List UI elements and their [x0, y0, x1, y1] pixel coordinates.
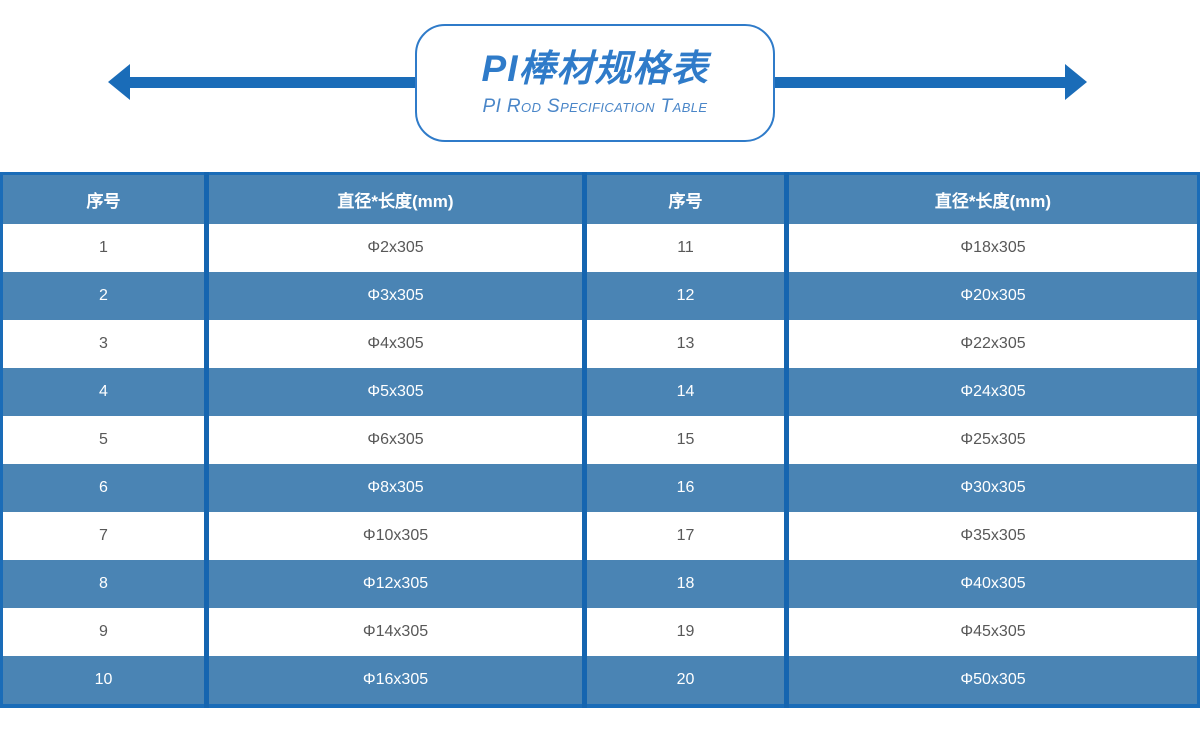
cell-no-right: 14 — [585, 368, 787, 416]
table-row: 1Φ2x30511Φ18x305 — [2, 224, 1199, 272]
cell-no-right: 15 — [585, 416, 787, 464]
cell-spec-left: Φ4x305 — [207, 320, 585, 368]
cell-spec-right: Φ45x305 — [787, 608, 1199, 656]
page-title-cn: PI棒材规格表 — [482, 48, 709, 91]
cell-spec-right: Φ22x305 — [787, 320, 1199, 368]
specification-table: 序号 直径*长度(mm) 序号 直径*长度(mm) 1Φ2x30511Φ18x3… — [0, 172, 1200, 708]
cell-no-right: 16 — [585, 464, 787, 512]
cell-no-left: 10 — [2, 656, 207, 706]
column-header-spec-right: 直径*长度(mm) — [787, 174, 1199, 225]
table-header-row: 序号 直径*长度(mm) 序号 直径*长度(mm) — [2, 174, 1199, 225]
table-row: 5Φ6x30515Φ25x305 — [2, 416, 1199, 464]
cell-spec-right: Φ30x305 — [787, 464, 1199, 512]
cell-no-left: 4 — [2, 368, 207, 416]
table-row: 3Φ4x30513Φ22x305 — [2, 320, 1199, 368]
cell-spec-right: Φ24x305 — [787, 368, 1199, 416]
cell-spec-left: Φ10x305 — [207, 512, 585, 560]
table-row: 2Φ3x30512Φ20x305 — [2, 272, 1199, 320]
table-row: 4Φ5x30514Φ24x305 — [2, 368, 1199, 416]
table-body: 1Φ2x30511Φ18x3052Φ3x30512Φ20x3053Φ4x3051… — [2, 224, 1199, 706]
cell-no-left: 5 — [2, 416, 207, 464]
cell-spec-left: Φ3x305 — [207, 272, 585, 320]
column-header-spec-left: 直径*长度(mm) — [207, 174, 585, 225]
page-title-en: PI Rod Specification Table — [483, 96, 708, 118]
left-arrow-head-icon — [108, 64, 130, 100]
cell-no-left: 9 — [2, 608, 207, 656]
cell-no-right: 19 — [585, 608, 787, 656]
cell-spec-right: Φ18x305 — [787, 224, 1199, 272]
table-row: 7Φ10x30517Φ35x305 — [2, 512, 1199, 560]
table-row: 6Φ8x30516Φ30x305 — [2, 464, 1199, 512]
cell-no-left: 6 — [2, 464, 207, 512]
cell-spec-left: Φ5x305 — [207, 368, 585, 416]
cell-spec-right: Φ40x305 — [787, 560, 1199, 608]
cell-spec-right: Φ50x305 — [787, 656, 1199, 706]
cell-no-right: 20 — [585, 656, 787, 706]
cell-spec-left: Φ16x305 — [207, 656, 585, 706]
right-arrow-shaft — [775, 77, 1065, 88]
right-arrow-head-icon — [1065, 64, 1087, 100]
column-header-no-right: 序号 — [585, 174, 787, 225]
cell-spec-left: Φ8x305 — [207, 464, 585, 512]
cell-spec-left: Φ6x305 — [207, 416, 585, 464]
cell-no-left: 7 — [2, 512, 207, 560]
cell-spec-left: Φ2x305 — [207, 224, 585, 272]
title-banner: PI棒材规格表 PI Rod Specification Table — [0, 0, 1200, 172]
cell-spec-right: Φ35x305 — [787, 512, 1199, 560]
column-header-no-left: 序号 — [2, 174, 207, 225]
table-row: 8Φ12x30518Φ40x305 — [2, 560, 1199, 608]
cell-spec-left: Φ14x305 — [207, 608, 585, 656]
table-row: 9Φ14x30519Φ45x305 — [2, 608, 1199, 656]
cell-spec-left: Φ12x305 — [207, 560, 585, 608]
cell-spec-right: Φ25x305 — [787, 416, 1199, 464]
title-box: PI棒材规格表 PI Rod Specification Table — [415, 24, 775, 142]
cell-no-right: 18 — [585, 560, 787, 608]
left-arrow-shaft — [128, 77, 418, 88]
cell-no-left: 3 — [2, 320, 207, 368]
table-row: 10Φ16x30520Φ50x305 — [2, 656, 1199, 706]
cell-no-left: 1 — [2, 224, 207, 272]
cell-no-right: 11 — [585, 224, 787, 272]
table-header: 序号 直径*长度(mm) 序号 直径*长度(mm) — [2, 174, 1199, 225]
cell-no-right: 13 — [585, 320, 787, 368]
cell-spec-right: Φ20x305 — [787, 272, 1199, 320]
cell-no-right: 12 — [585, 272, 787, 320]
cell-no-left: 8 — [2, 560, 207, 608]
cell-no-right: 17 — [585, 512, 787, 560]
cell-no-left: 2 — [2, 272, 207, 320]
